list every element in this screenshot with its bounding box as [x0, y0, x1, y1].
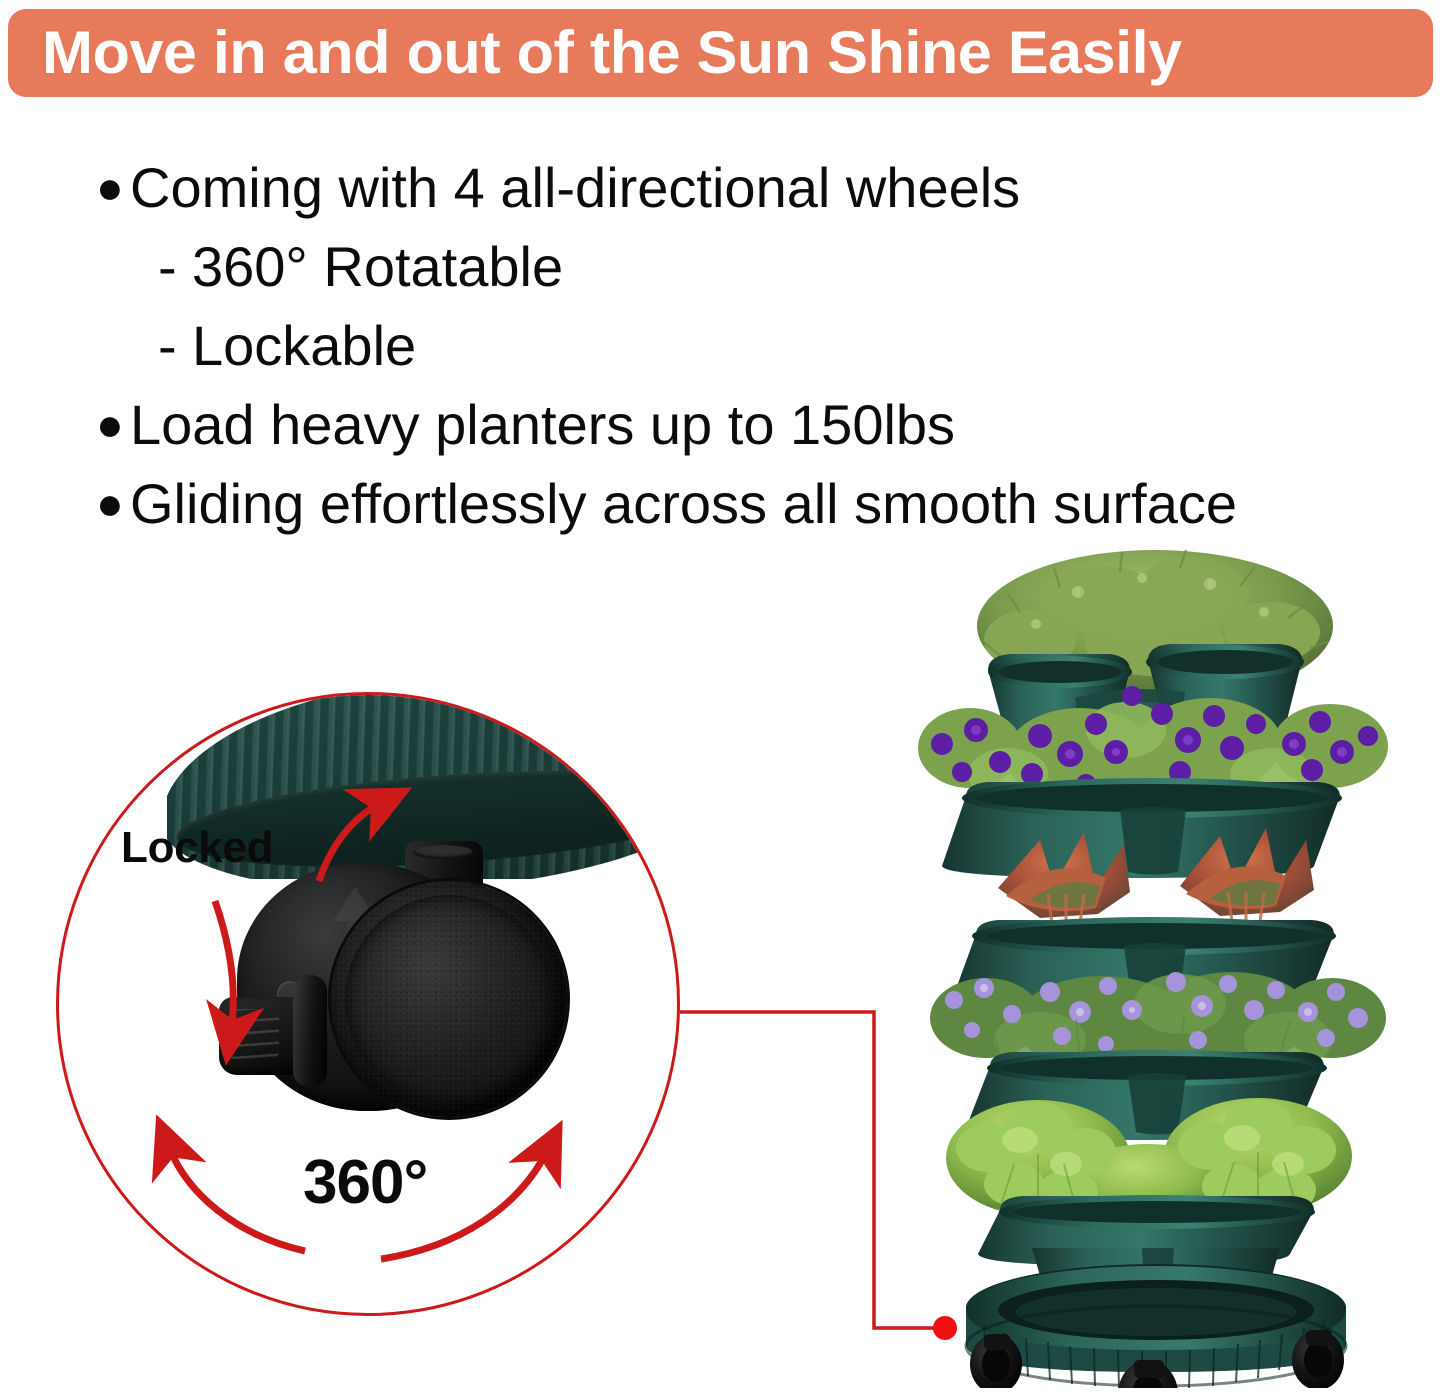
feature-list: ● Coming with 4 all-directional wheels -… [96, 148, 1436, 543]
tier-2-pots [942, 778, 1342, 878]
list-item-label: Lockable [192, 306, 416, 385]
base-caddy-with-casters [966, 1264, 1346, 1388]
bullet-icon: ● [96, 148, 130, 227]
list-item: ● Gliding effortlessly across all smooth… [96, 464, 1436, 543]
locked-label: Locked [121, 823, 273, 873]
list-item-label: 360° Rotatable [192, 227, 563, 306]
list-item: ● Load heavy planters up to 150lbs [96, 385, 1436, 464]
bullet-icon: ● [96, 464, 130, 543]
list-item: - Lockable [96, 306, 1436, 385]
product-image-planter-tower [880, 548, 1440, 1388]
list-item: ● Coming with 4 all-directional wheels [96, 148, 1436, 227]
dash-icon: - [158, 227, 192, 306]
curved-arrow-rotate-left-icon [169, 1147, 305, 1251]
bullet-icon: ● [96, 385, 130, 464]
callout-ring-icon: Locked 360° [56, 692, 680, 1316]
caster-wheel [1292, 1330, 1344, 1388]
caster-wheel-icon [237, 847, 577, 1137]
rotation-label: 360° [303, 1147, 427, 1218]
dash-icon: - [158, 306, 192, 385]
caster-detail-callout: Locked 360° [56, 692, 680, 1316]
list-item-label: Coming with 4 all-directional wheels [130, 148, 1020, 227]
list-item-label: Load heavy planters up to 150lbs [130, 385, 955, 464]
page-title: Move in and out of the Sun Shine Easily [42, 23, 1182, 83]
list-item-label: Gliding effortlessly across all smooth s… [130, 464, 1237, 543]
list-item: - 360° Rotatable [96, 227, 1436, 306]
header-banner: Move in and out of the Sun Shine Easily [8, 9, 1433, 97]
